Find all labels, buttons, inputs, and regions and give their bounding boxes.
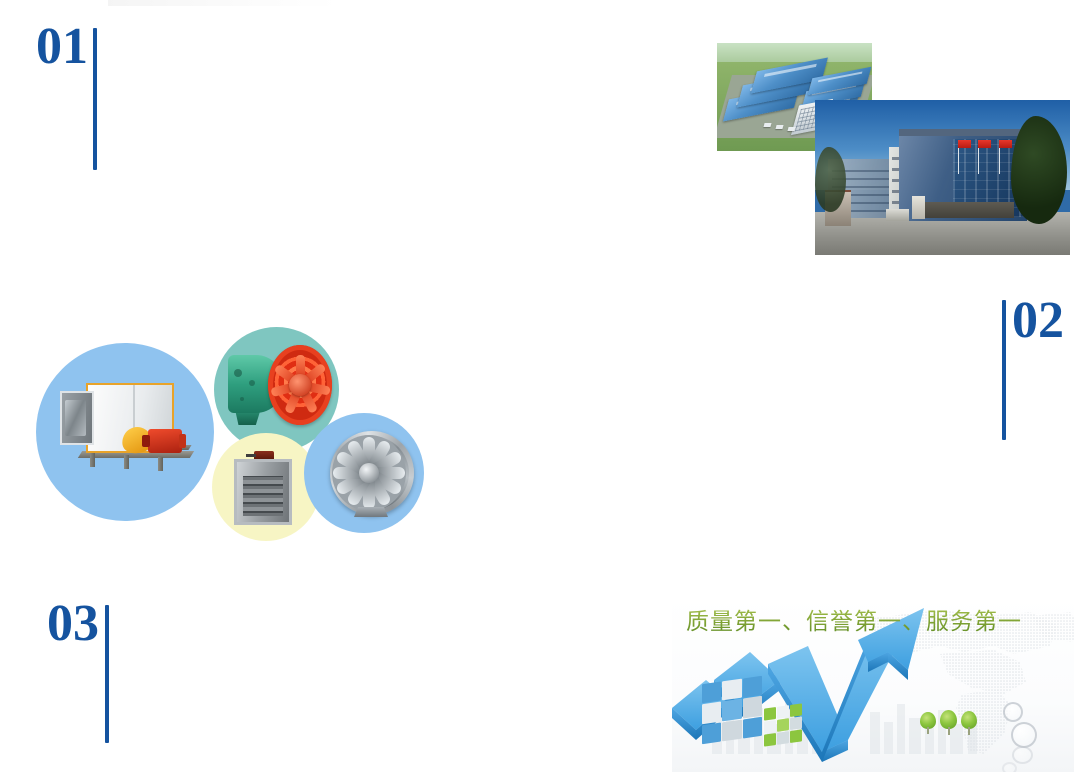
section-rule-03 <box>105 605 109 743</box>
section-rule-02 <box>1002 300 1006 440</box>
blue-cube-stack-icon <box>702 680 762 740</box>
tree-trunk <box>948 727 950 735</box>
cabinet-centrifugal-fan-unit <box>60 377 188 469</box>
photo-gate-pillar <box>912 196 925 219</box>
tree-icon <box>961 711 977 736</box>
top-edge-artifact <box>108 0 338 6</box>
tree-trunk <box>927 727 929 734</box>
fan-motor <box>148 429 182 453</box>
office-building-photo <box>815 100 1070 255</box>
turbine-shroud <box>330 431 414 515</box>
photo-parked-vehicle <box>886 209 909 221</box>
metal-turbine-fan <box>320 429 416 521</box>
impeller-hub <box>289 374 311 396</box>
red-flag <box>978 140 991 148</box>
section-marker-03: 03 <box>47 597 109 743</box>
quality-slogan-banner: 质量第一、信誉第一、服务第一 <box>672 596 1074 772</box>
fan-inlet-opening <box>60 391 94 445</box>
bubble-icon <box>1003 702 1023 722</box>
turbine-hub <box>359 463 379 483</box>
fan-leg <box>158 457 163 471</box>
green-cube-stack-icon <box>764 706 802 744</box>
turbine-impeller <box>332 435 406 511</box>
axial-fan-impeller <box>268 345 332 425</box>
page-canvas: 01 02 03 <box>0 0 1074 772</box>
section-number-03: 03 <box>47 601 99 647</box>
ventilation-product-collage <box>32 325 424 547</box>
aerial-vehicle <box>763 123 771 127</box>
section-marker-02: 02 <box>1002 294 1064 440</box>
fan-leg <box>124 455 129 469</box>
bubble-reflection-icon <box>1012 746 1033 764</box>
air-damper-filter-box <box>234 451 292 527</box>
tree-icon <box>940 710 957 736</box>
turbine-base <box>354 507 388 517</box>
tree-icon <box>920 712 936 736</box>
photo-tree <box>815 147 846 212</box>
red-flag <box>999 140 1012 148</box>
photo-boundary-wall <box>917 202 1014 218</box>
tree-trunk <box>968 727 970 735</box>
aerial-vehicle <box>775 125 783 129</box>
fan-leg <box>90 453 95 467</box>
section-number-01: 01 <box>36 24 88 70</box>
damper-frame <box>234 459 292 525</box>
section-marker-01: 01 <box>36 20 97 170</box>
red-flag <box>958 140 971 148</box>
axial-flow-fan <box>228 343 332 435</box>
banner-slogan: 质量第一、信誉第一、服务第一 <box>686 606 1022 636</box>
damper-blades <box>243 476 283 516</box>
bubble-icon <box>1011 722 1037 748</box>
bubble-reflection-icon <box>1002 762 1017 772</box>
section-number-02: 02 <box>1012 298 1064 344</box>
section-rule-01 <box>93 28 97 170</box>
